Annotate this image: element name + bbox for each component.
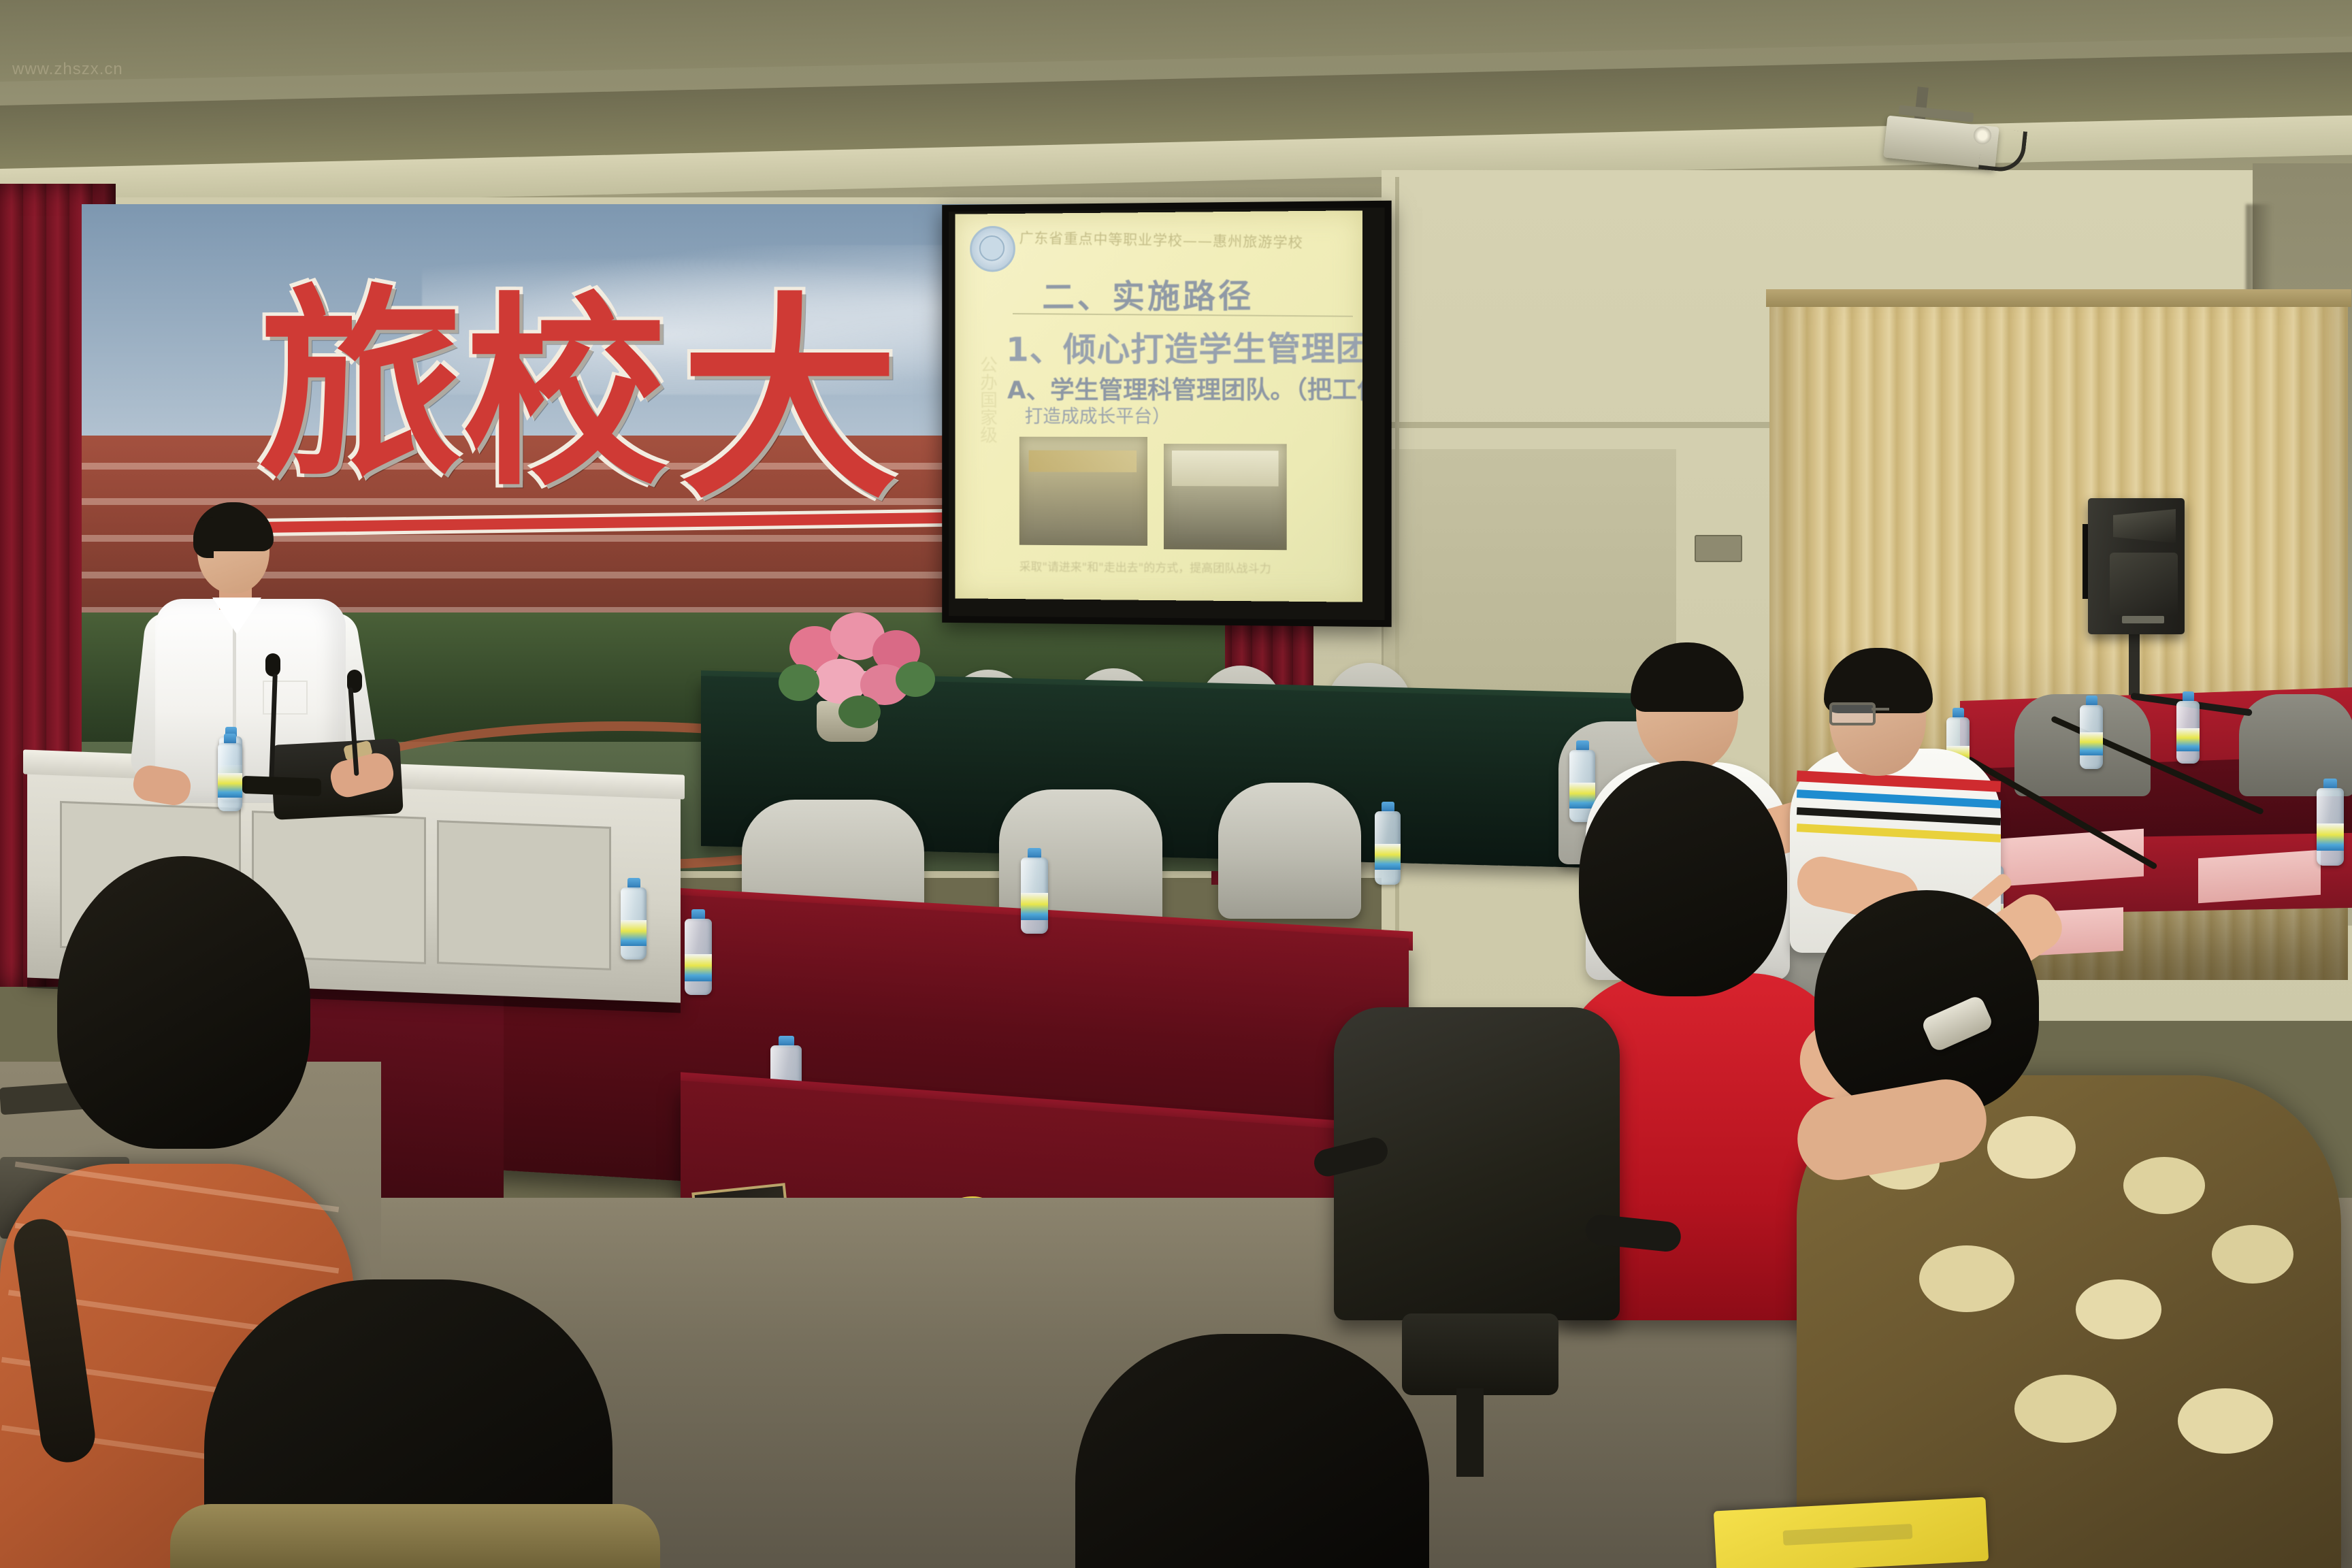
bottled-water-3[interactable]	[685, 909, 712, 995]
blouse-pattern-7	[2014, 1375, 2117, 1443]
blouse-pattern-4	[1919, 1245, 2014, 1312]
microphone-head-icon	[265, 653, 280, 676]
bottle-label	[621, 920, 647, 946]
bottled-water-11[interactable]	[2080, 696, 2103, 769]
banner-char-3: 大	[681, 293, 898, 510]
bottled-water-1[interactable]	[218, 734, 242, 811]
blouse-pattern-5	[2076, 1279, 2161, 1339]
bottle-label	[218, 773, 242, 798]
slide-title: 二、实施路径	[1042, 269, 1254, 318]
bottle-label	[2317, 823, 2344, 851]
presentation-slide: 广东省重点中等职业学校——惠州旅游学校 二、实施路径 1、倾心打造学生管理团队 …	[955, 210, 1363, 602]
bottled-water-13[interactable]	[2317, 779, 2344, 866]
audience-orange-shirt-hair	[57, 856, 310, 1149]
presenter-shirt-pocket	[263, 681, 308, 715]
bottle-label	[2176, 728, 2200, 751]
audience-foreground-center-shoulders	[170, 1504, 660, 1568]
banner-char-2: 校	[463, 293, 667, 497]
audience-red-top-hair	[1579, 761, 1787, 996]
audience-patterned-blouse-hair	[1814, 890, 2039, 1115]
blouse-pattern-8	[2178, 1388, 2273, 1454]
bottled-water-2[interactable]	[621, 878, 647, 960]
conference-room-photo: 旅 校 大 广东省重点中等职业学校——惠州旅游学校 二、实施路径 1、倾心打造学…	[0, 0, 2352, 1568]
speaker-woofer-icon	[2110, 553, 2178, 615]
lectern-door-3[interactable]	[437, 820, 611, 970]
eyeglasses-icon	[1829, 702, 1876, 725]
watermark: www.zhszx.cn	[12, 60, 123, 79]
flower-arrangement	[776, 599, 939, 728]
slide-header-text: 广东省重点中等职业学校——惠州旅游学校	[1019, 227, 1347, 253]
bottled-water-12[interactable]	[2176, 691, 2200, 764]
slide-bullet-3: 打造成成长平台）	[1025, 402, 1171, 428]
audience-foreground-right-hair	[1075, 1334, 1429, 1568]
school-emblem-inner	[979, 235, 1004, 261]
slide-side-text: 公办国家级	[975, 356, 1000, 444]
bottle-label	[1375, 844, 1401, 870]
bottled-water-5[interactable]	[1375, 802, 1401, 885]
slide-bullet-2: A、学生管理科管理团队。（把工作平台	[1007, 370, 1362, 406]
slide-caption: 采取"请进来"和"走出去"的方式，提高团队战斗力	[1019, 557, 1339, 577]
chair-middle-3[interactable]	[1218, 783, 1361, 919]
bottle-label	[1021, 893, 1048, 920]
office-chair-column	[1456, 1388, 1484, 1477]
office-chair-seat[interactable]	[1402, 1313, 1558, 1395]
bottle-label	[685, 954, 712, 981]
wall-panel	[1382, 449, 1676, 721]
pink-paper-2[interactable]	[2198, 850, 2321, 904]
pink-paper-1[interactable]	[2001, 829, 2144, 887]
blouse-pattern-3	[2123, 1157, 2205, 1214]
speaker-badge	[2122, 616, 2164, 623]
wall-outlet[interactable]	[1695, 535, 1742, 562]
wall-seam	[1395, 177, 1399, 1021]
bottled-water-4[interactable]	[1021, 848, 1048, 934]
microphone-base	[242, 776, 321, 796]
slide-bullet-1: 1、倾心打造学生管理团队	[1006, 322, 1362, 372]
blouse-pattern-2	[1987, 1116, 2076, 1179]
blouse-pattern-6	[2212, 1225, 2293, 1284]
slide-photo-left-banner	[1029, 451, 1137, 472]
slide-photo-right-sky	[1172, 451, 1279, 487]
banner-char-1: 旅	[259, 284, 463, 489]
bottle-label	[1569, 783, 1595, 808]
eyeglasses-bridge	[1872, 708, 1889, 710]
bottle-label	[2080, 732, 2103, 755]
